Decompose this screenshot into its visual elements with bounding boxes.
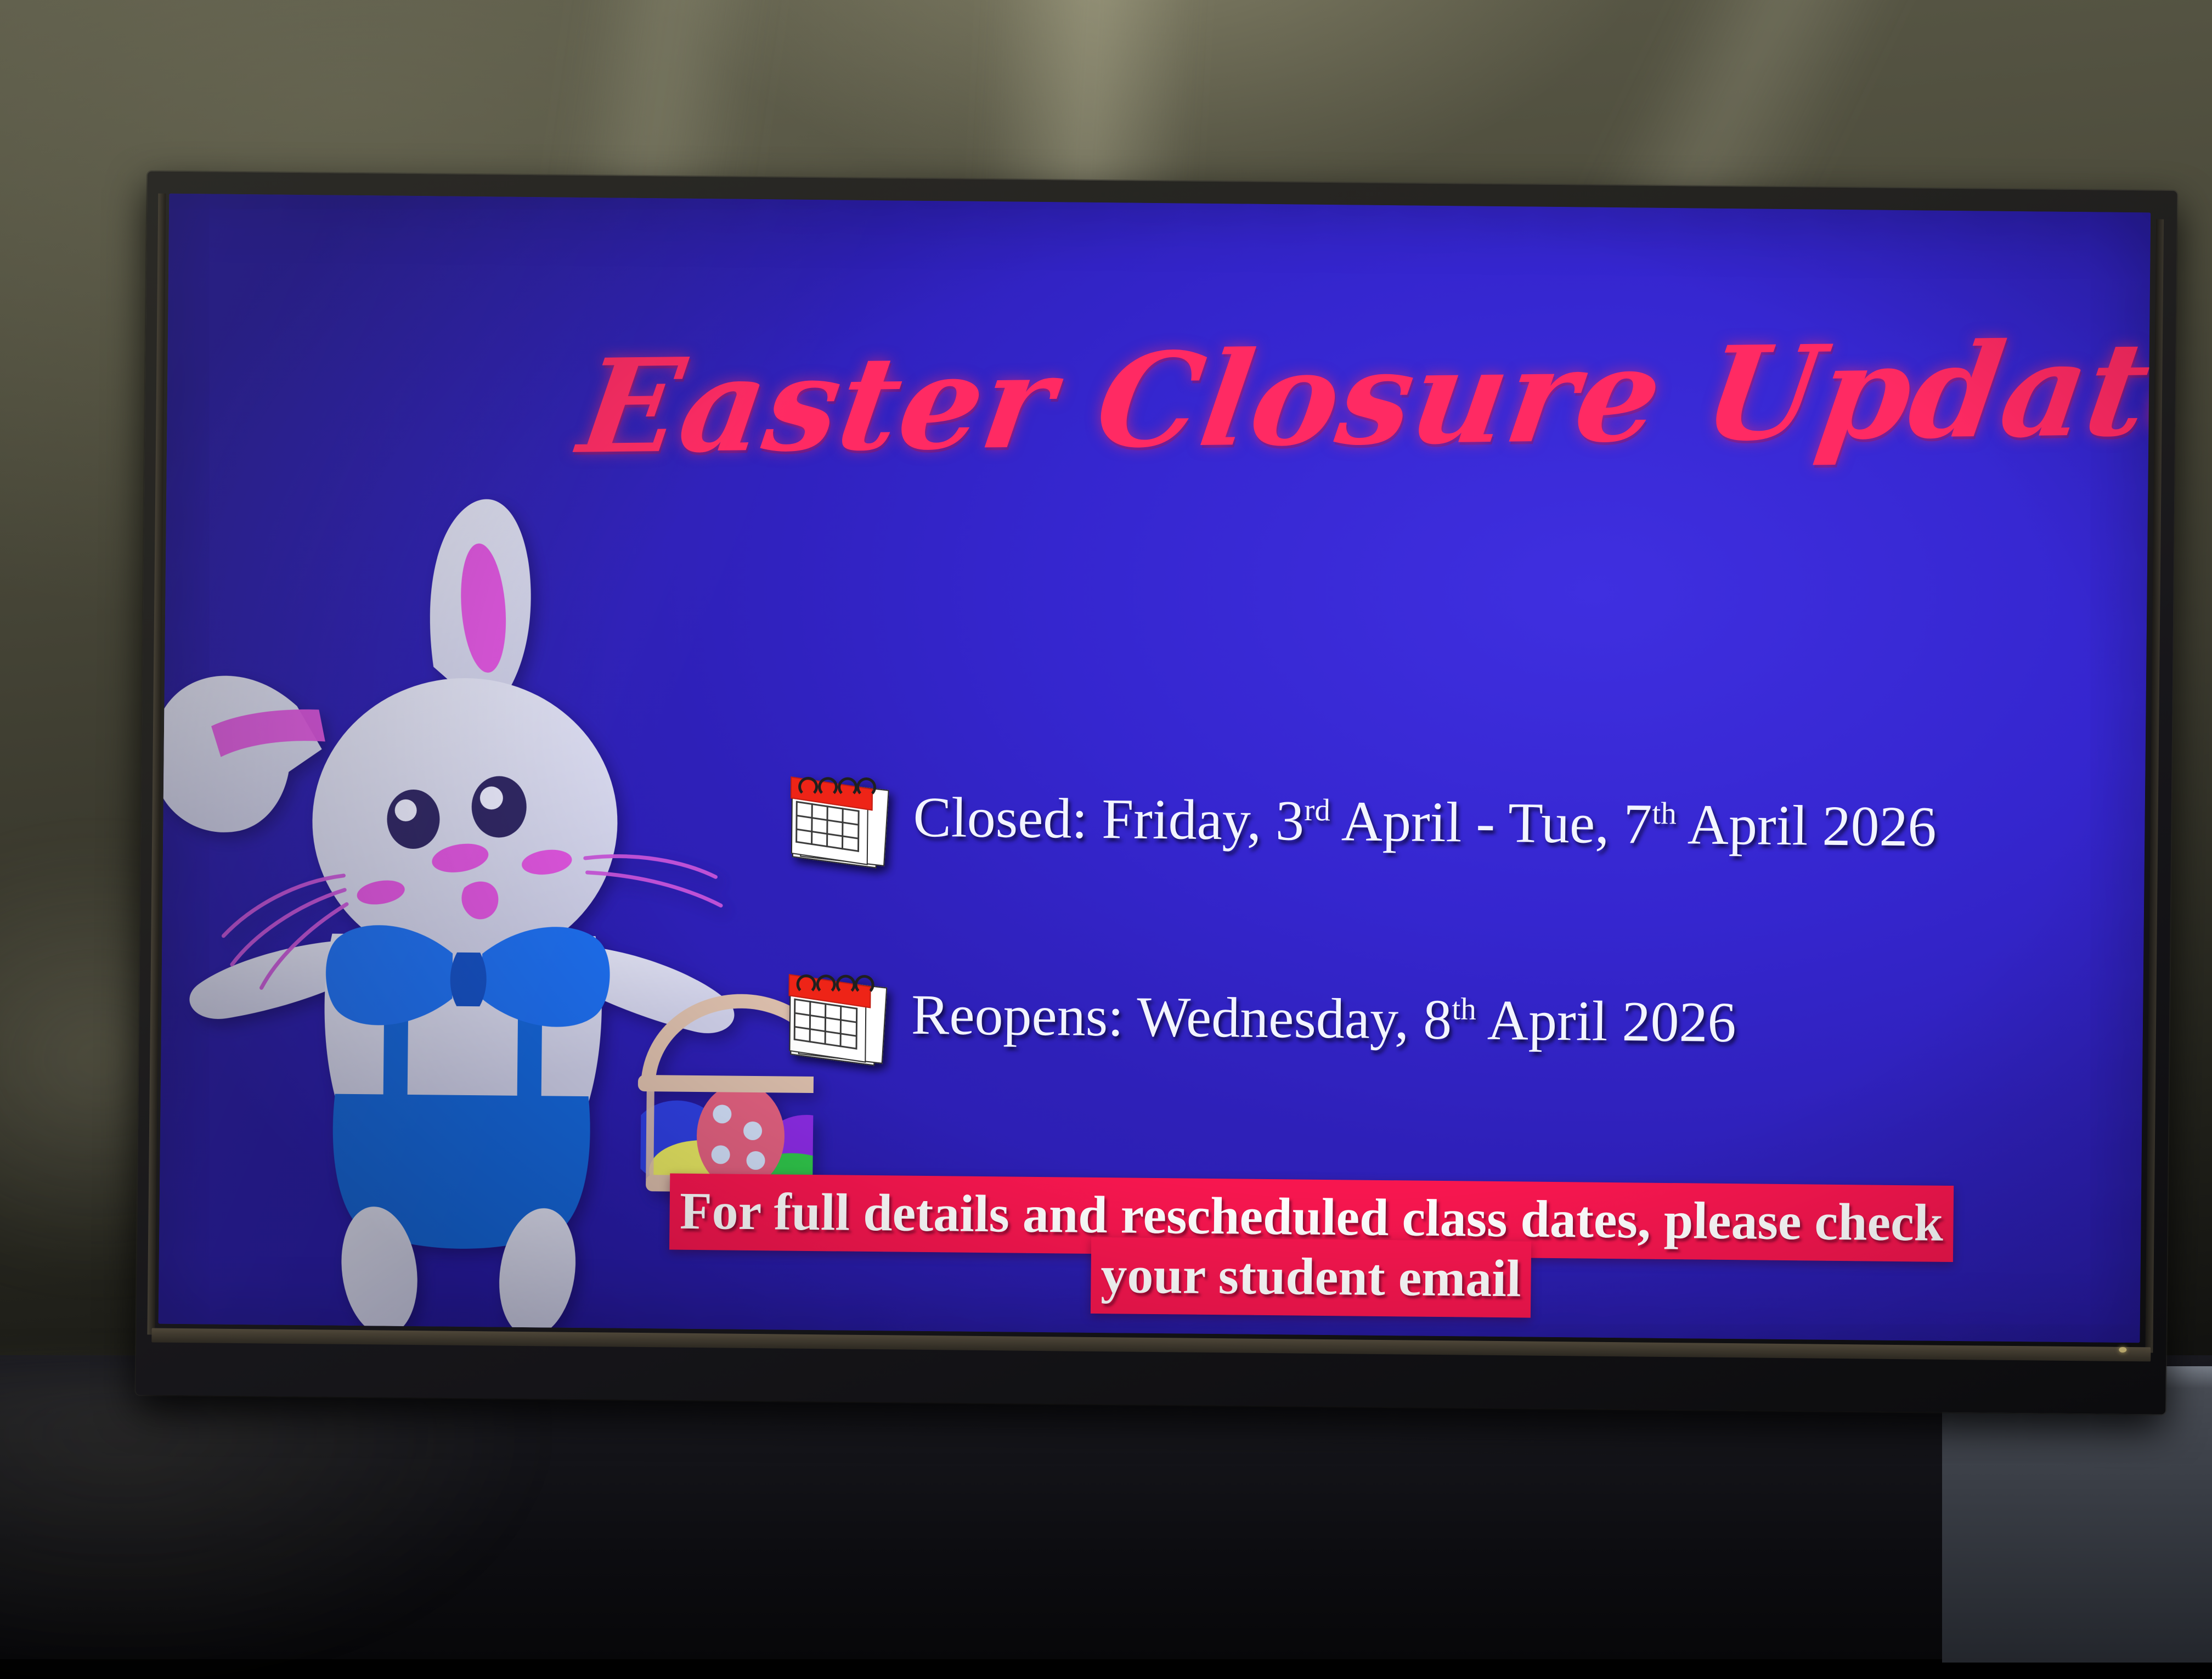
reopen-sup-a: th	[1452, 992, 1476, 1027]
reopen-text-b: April 2026	[1476, 989, 1736, 1055]
closure-dates-text: Closed: Friday, 3rd April - Tue, 7th Apr…	[913, 777, 1937, 861]
closure-sup-b: th	[1652, 796, 1677, 831]
closure-dates-row: Closed: Friday, 3rd April - Tue, 7th Apr…	[786, 776, 2103, 876]
tv-screen: Easter Closure Update	[159, 194, 2151, 1343]
television: Easter Closure Update	[136, 171, 2177, 1414]
closure-text-a: Closed: Friday, 3	[913, 786, 1305, 853]
reopen-date-text: Reopens: Wednesday, 8th April 2026	[911, 974, 1737, 1056]
closure-text-c: April 2026	[1676, 793, 1937, 859]
page-title: Easter Closure Update	[573, 328, 1803, 471]
closure-sup-a: rd	[1304, 793, 1330, 827]
tv-indicator-dot	[2119, 1347, 2126, 1353]
calendar-icon	[786, 780, 889, 869]
closure-text-b: April - Tue, 7	[1330, 790, 1652, 856]
counter-glow	[0, 1372, 549, 1679]
reopen-text-a: Reopens: Wednesday, 8	[911, 983, 1452, 1051]
student-email-notice: For full details and rescheduled class d…	[597, 1180, 2025, 1314]
notice-line-2: your student email	[1091, 1237, 1532, 1318]
calendar-icon	[783, 978, 887, 1067]
reopen-date-row: Reopens: Wednesday, 8th April 2026	[783, 973, 2101, 1074]
